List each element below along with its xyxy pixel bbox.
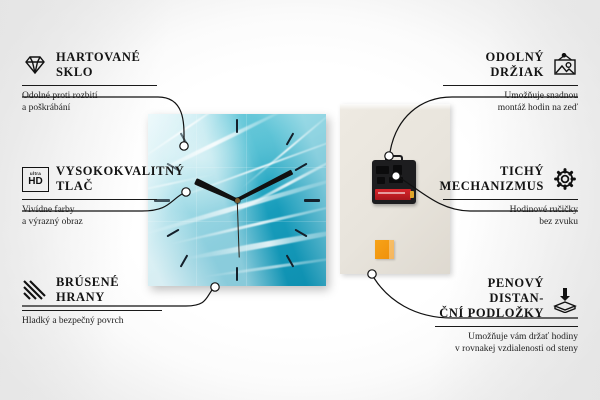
feature-header: BRÚSENÉHRANY <box>22 275 162 305</box>
mechanism-hanger-tab <box>385 155 403 165</box>
feature-title: PENOVÝ DISTAN-ČNÍ PODLOŽKY <box>435 276 544 321</box>
mechanism-slot <box>376 166 389 174</box>
feature-description: Hodinové ručičkybez zvuku <box>443 204 578 228</box>
infographic-canvas: HARTOVANÉSKLO Odolné proti rozbitía pošk… <box>0 0 600 400</box>
feature-header: ultra HD VYSOKOKVALITNÝTLAČ <box>22 164 157 194</box>
foam-spacer-pad <box>375 240 394 259</box>
product-image <box>140 100 450 295</box>
feature-title: ODOLNÝDRŽIAK <box>486 50 544 80</box>
divider <box>435 326 578 327</box>
ultra-hd-icon: ultra HD <box>22 167 48 191</box>
feature-ground-edges: BRÚSENÉHRANY Hladký a bezpečný povrch <box>22 275 162 327</box>
diamond-icon <box>22 53 48 77</box>
feature-description: Umožňuje snadnoumontáž hodin na zeď <box>443 90 578 114</box>
divider <box>22 85 157 86</box>
mechanism-slot <box>389 177 403 183</box>
feature-description: Hladký a bezpečný povrch <box>22 315 162 327</box>
feature-header: HARTOVANÉSKLO <box>22 50 157 80</box>
divider <box>443 85 578 86</box>
divider <box>22 199 157 200</box>
feature-title: BRÚSENÉHRANY <box>56 275 119 305</box>
divider <box>22 310 162 311</box>
clock-tick <box>236 267 238 281</box>
clock-mechanism <box>372 160 416 204</box>
feature-title: TICHÝMECHANIZMUS <box>439 164 544 194</box>
feature-hardened-glass: HARTOVANÉSKLO Odolné proti rozbitía pošk… <box>22 50 157 114</box>
battery <box>375 189 411 200</box>
hanging-frame-icon <box>552 53 578 77</box>
feature-silent-mechanism: TICHÝMECHANIZMUS Hodinové ručičkybez zvu… <box>443 164 578 228</box>
feature-description: Odolné proti rozbitía poškrábání <box>22 90 157 114</box>
feature-foam-spacers: PENOVÝ DISTAN-ČNÍ PODLOŽKY Umožňuje vám … <box>435 276 578 355</box>
clock-face <box>148 114 326 286</box>
clock-center-pin <box>235 198 240 203</box>
feature-header: PENOVÝ DISTAN-ČNÍ PODLOŽKY <box>435 276 578 321</box>
gear-icon <box>552 167 578 191</box>
divider <box>443 199 578 200</box>
stacked-pad-arrow-icon <box>552 287 578 311</box>
feature-title: VYSOKOKVALITNÝTLAČ <box>56 164 184 194</box>
feature-high-quality-print: ultra HD VYSOKOKVALITNÝTLAČ Vivídne farb… <box>22 164 157 228</box>
feature-header: TICHÝMECHANIZMUS <box>443 164 578 194</box>
mechanism-slot <box>377 177 385 184</box>
diagonal-stripes-icon <box>22 278 48 302</box>
clock-tick <box>236 119 238 133</box>
feature-description: Vivídne farbya výrazný obraz <box>22 204 157 228</box>
clock-tick <box>304 199 320 202</box>
feature-header: ODOLNÝDRŽIAK <box>443 50 578 80</box>
feature-title: HARTOVANÉSKLO <box>56 50 140 80</box>
feature-durable-hanger: ODOLNÝDRŽIAK Umožňuje snadnoumontáž hodi… <box>443 50 578 114</box>
mechanism-slot <box>393 165 402 175</box>
feature-description: Umožňuje vám držať hodinyv rovnakej vzdi… <box>435 331 578 355</box>
battery-label <box>378 192 405 194</box>
